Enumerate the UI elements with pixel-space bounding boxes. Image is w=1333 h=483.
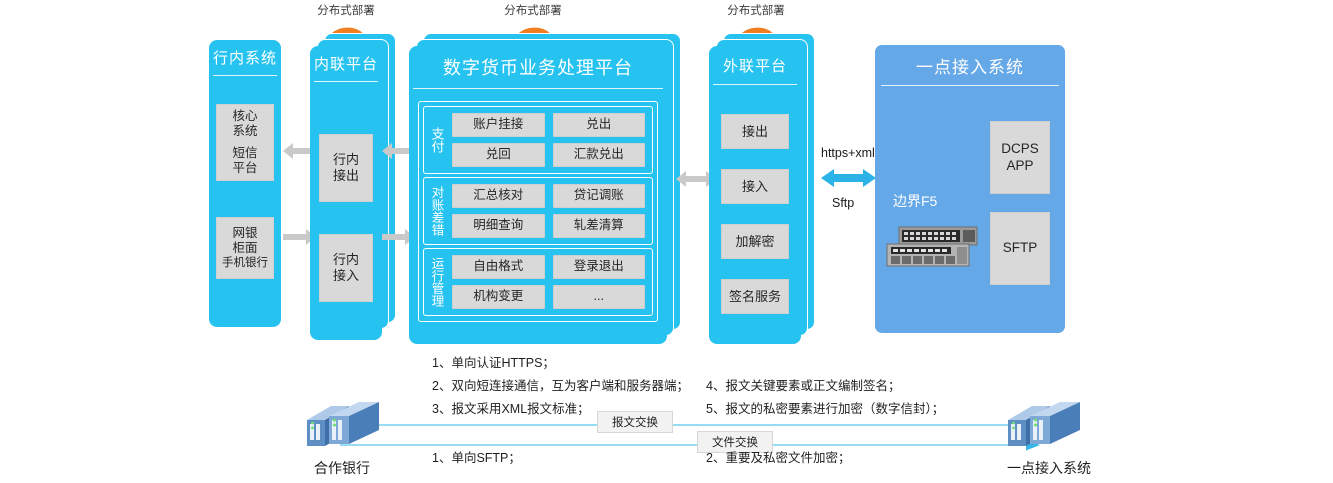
chip-function[interactable]: 账户挂接 <box>452 113 545 137</box>
system-single-point-access[interactable]: 一点接入系统 边界F5 <box>875 45 1065 333</box>
chip-function[interactable]: 贷记调账 <box>553 184 646 208</box>
chip-dcps-app[interactable]: DCPS APP <box>990 121 1050 194</box>
chip-line: 接出 <box>333 168 359 184</box>
deploy-label: 分布式部署 <box>718 2 794 18</box>
deploy-label: 分布式部署 <box>495 2 571 18</box>
chip-line: 行内 <box>333 152 359 168</box>
link-label-https-xml: https+xml <box>821 146 875 160</box>
chip-function[interactable]: 机构变更 <box>452 285 545 309</box>
server-label-partner-bank: 合作银行 <box>296 458 388 478</box>
note-message-right-5: 5、报文的私密要素进行加密（数字信封）； <box>706 399 944 420</box>
link-label-sftp: Sftp <box>832 196 854 210</box>
deploy-label: 分布式部署 <box>308 2 384 18</box>
chip-function[interactable]: 轧差清算 <box>553 214 646 238</box>
note-message-left-1: 1、单向认证HTTPS； <box>432 353 555 374</box>
chip-line: 签名服务 <box>729 289 781 305</box>
note-message-right-4: 4、报文关键要素或正文编制签名； <box>706 376 900 397</box>
chip-line: 核心 <box>232 109 257 124</box>
group-items-payment: 账户挂接 兑出 兑回 汇款兑出 <box>450 107 652 173</box>
chip-line: 系统 <box>232 124 257 139</box>
chip-function[interactable]: 兑回 <box>452 143 545 167</box>
platform-title: 行内系统 <box>209 40 281 75</box>
platform-dcep-platform[interactable]: 数字货币业务处理平台 支付 账户挂接 兑出 兑回 汇款兑出 对账差错 <box>409 33 699 338</box>
deploy-annotation-external: 分布式部署 <box>718 2 794 18</box>
system-title: 一点接入系统 <box>875 45 1065 85</box>
flow-line-message-exchange <box>340 418 1040 432</box>
note-message-left-3: 3、报文采用XML报文标准； <box>432 399 590 420</box>
platform-external-platform[interactable]: 外联平台 接出 接入 加解密 签名服务 <box>709 33 824 338</box>
platform-card: 外联平台 接出 接入 加解密 签名服务 <box>709 46 801 344</box>
platform-card: 行内系统 核心 系统 短信 平台 网银 柜面 手机银行 <box>209 40 281 327</box>
platform-card: 内联平台 行内 接出 行内 接入 <box>310 46 382 340</box>
architecture-diagram-canvas: 分布式部署 分布式部署 分布式部署 行内系统 核心 系统 短信 平台 <box>0 0 1333 483</box>
chip-function[interactable]: ... <box>553 285 646 309</box>
chip-outbound[interactable]: 接出 <box>721 114 789 149</box>
platform-card: 数字货币业务处理平台 支付 账户挂接 兑出 兑回 汇款兑出 对账差错 <box>409 46 667 344</box>
chip-function[interactable]: 自由格式 <box>452 255 545 279</box>
chip-line: 柜面 <box>232 241 257 256</box>
chip-line: 接入 <box>333 268 359 284</box>
server-label-single-point-access: 一点接入系统 <box>994 458 1104 478</box>
chip-line: APP <box>1006 158 1033 174</box>
platform-title: 内联平台 <box>310 46 382 81</box>
chip-line: DCPS <box>1001 141 1039 157</box>
function-group-reconciliation: 对账差错 汇总核对 贷记调账 明细查询 轧差清算 <box>423 177 653 245</box>
chip-core-system[interactable]: 核心 系统 短信 平台 <box>216 104 274 181</box>
deploy-annotation-intranet: 分布式部署 <box>308 2 384 18</box>
platform-body: 核心 系统 短信 平台 网银 柜面 手机银行 <box>209 76 281 327</box>
chip-inbound[interactable]: 接入 <box>721 169 789 204</box>
platform-title: 外联平台 <box>709 46 801 84</box>
chip-encrypt-decrypt[interactable]: 加解密 <box>721 224 789 259</box>
deploy-annotation-dcep: 分布式部署 <box>495 2 571 18</box>
note-file-left-1: 1、单向SFTP； <box>432 448 521 469</box>
exchange-label-message: 报文交换 <box>597 411 673 433</box>
chip-sftp[interactable]: SFTP <box>990 212 1050 285</box>
platform-body: 接出 接入 加解密 签名服务 <box>709 85 801 344</box>
chip-line: 接入 <box>742 179 768 195</box>
chip-intra-bank-inbound[interactable]: 行内 接入 <box>319 234 373 302</box>
chip-line: SFTP <box>1003 240 1038 256</box>
platform-body: 支付 账户挂接 兑出 兑回 汇款兑出 对账差错 汇总核对 贷记调账 <box>409 89 667 344</box>
function-groups-frame: 支付 账户挂接 兑出 兑回 汇款兑出 对账差错 汇总核对 贷记调账 <box>418 101 658 322</box>
chip-function[interactable]: 汇款兑出 <box>553 143 646 167</box>
function-group-payment: 支付 账户挂接 兑出 兑回 汇款兑出 <box>423 106 653 174</box>
platform-intranet-platform[interactable]: 内联平台 行内 接出 行内 接入 <box>310 33 390 333</box>
chip-line: 行内 <box>333 252 359 268</box>
chip-line: 网银 <box>232 226 257 241</box>
platform-body: 行内 接出 行内 接入 <box>310 82 382 340</box>
f5-switch-icon <box>885 226 981 268</box>
arrow-icon-external-to-access-bidirectional <box>821 168 876 188</box>
chip-line: 短信 <box>232 146 257 161</box>
note-file-right-2: 2、重要及私密文件加密； <box>706 448 850 469</box>
chip-function[interactable]: 汇总核对 <box>452 184 545 208</box>
chip-function[interactable]: 兑出 <box>553 113 646 137</box>
note-message-left-2: 2、双向短连接通信，互为客户端和服务器端； <box>432 376 689 397</box>
server-icon-single-point-access <box>1000 400 1084 454</box>
chip-line: 手机银行 <box>222 256 268 270</box>
platform-intra-bank-system[interactable]: 行内系统 核心 系统 短信 平台 网银 柜面 手机银行 <box>209 40 281 327</box>
chip-function[interactable]: 明细查询 <box>452 214 545 238</box>
group-label-operations: 运行管理 <box>424 249 450 315</box>
chip-line: 接出 <box>742 124 768 140</box>
group-label-payment: 支付 <box>424 107 450 173</box>
platform-title: 数字货币业务处理平台 <box>409 46 667 88</box>
group-items-operations: 自由格式 登录退出 机构变更 ... <box>450 249 652 315</box>
chip-line: 平台 <box>232 161 257 176</box>
group-items-reconciliation: 汇总核对 贷记调账 明细查询 轧差清算 <box>450 178 652 244</box>
chip-line: 加解密 <box>735 234 774 250</box>
group-label-reconciliation: 对账差错 <box>424 178 450 244</box>
chip-function[interactable]: 登录退出 <box>553 255 646 279</box>
chip-signature-service[interactable]: 签名服务 <box>721 279 789 314</box>
system-body: 边界F5 <box>875 86 1065 333</box>
server-icon-partner-bank <box>299 400 383 454</box>
chip-intra-bank-outbound[interactable]: 行内 接出 <box>319 134 373 202</box>
chip-ebank-counter-mobile[interactable]: 网银 柜面 手机银行 <box>216 217 274 279</box>
function-group-operations: 运行管理 自由格式 登录退出 机构变更 ... <box>423 248 653 316</box>
f5-device-label: 边界F5 <box>893 191 937 211</box>
